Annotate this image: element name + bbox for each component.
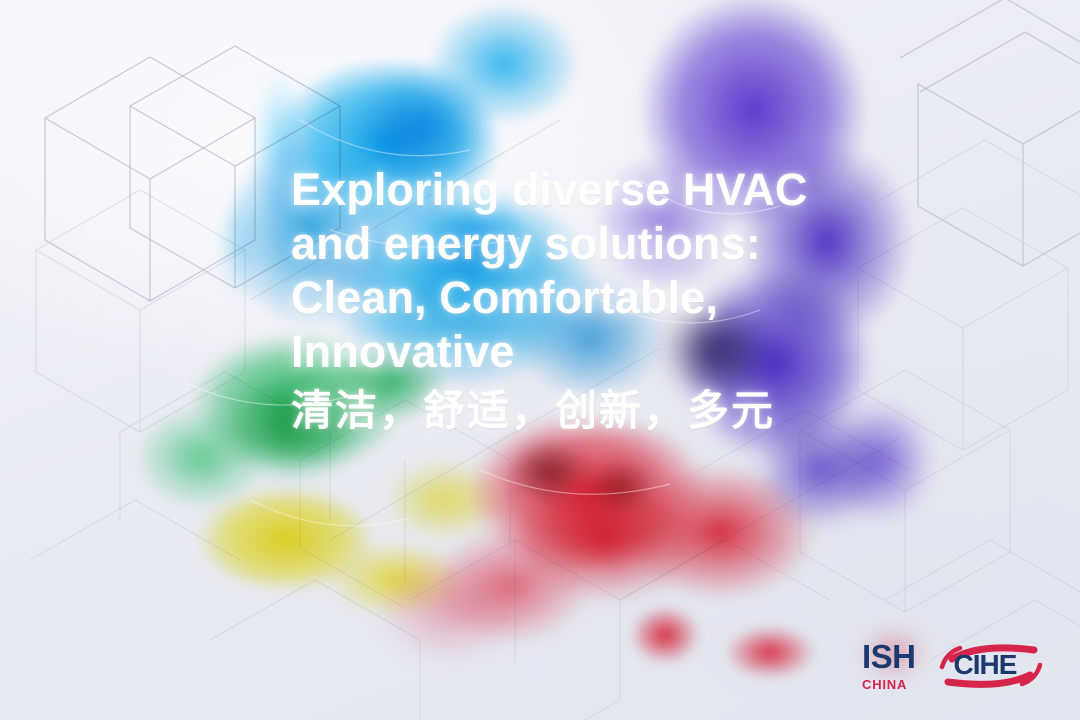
- cihe-wordmark: CIHE: [954, 651, 1017, 679]
- presentation-slide: Exploring diverse HVAC and energy soluti…: [0, 0, 1080, 720]
- headline-line-4: Innovative: [291, 325, 931, 379]
- headline-line-2: and energy solutions:: [291, 217, 931, 271]
- headline-chinese-subtitle: 清洁，舒适，创新，多元: [291, 385, 931, 437]
- headline-block: Exploring diverse HVAC and energy soluti…: [291, 163, 931, 437]
- cihe-logo: CIHE: [934, 641, 1046, 691]
- headline-line-1: Exploring diverse HVAC: [291, 163, 931, 217]
- logo-lockup: ISH CHINA CIHE: [862, 640, 1046, 692]
- ish-china-subtext: CHINA: [862, 678, 907, 692]
- ish-china-logo: ISH CHINA: [862, 640, 916, 692]
- headline-line-3: Clean, Comfortable,: [291, 271, 931, 325]
- ish-wordmark: ISH: [862, 640, 916, 673]
